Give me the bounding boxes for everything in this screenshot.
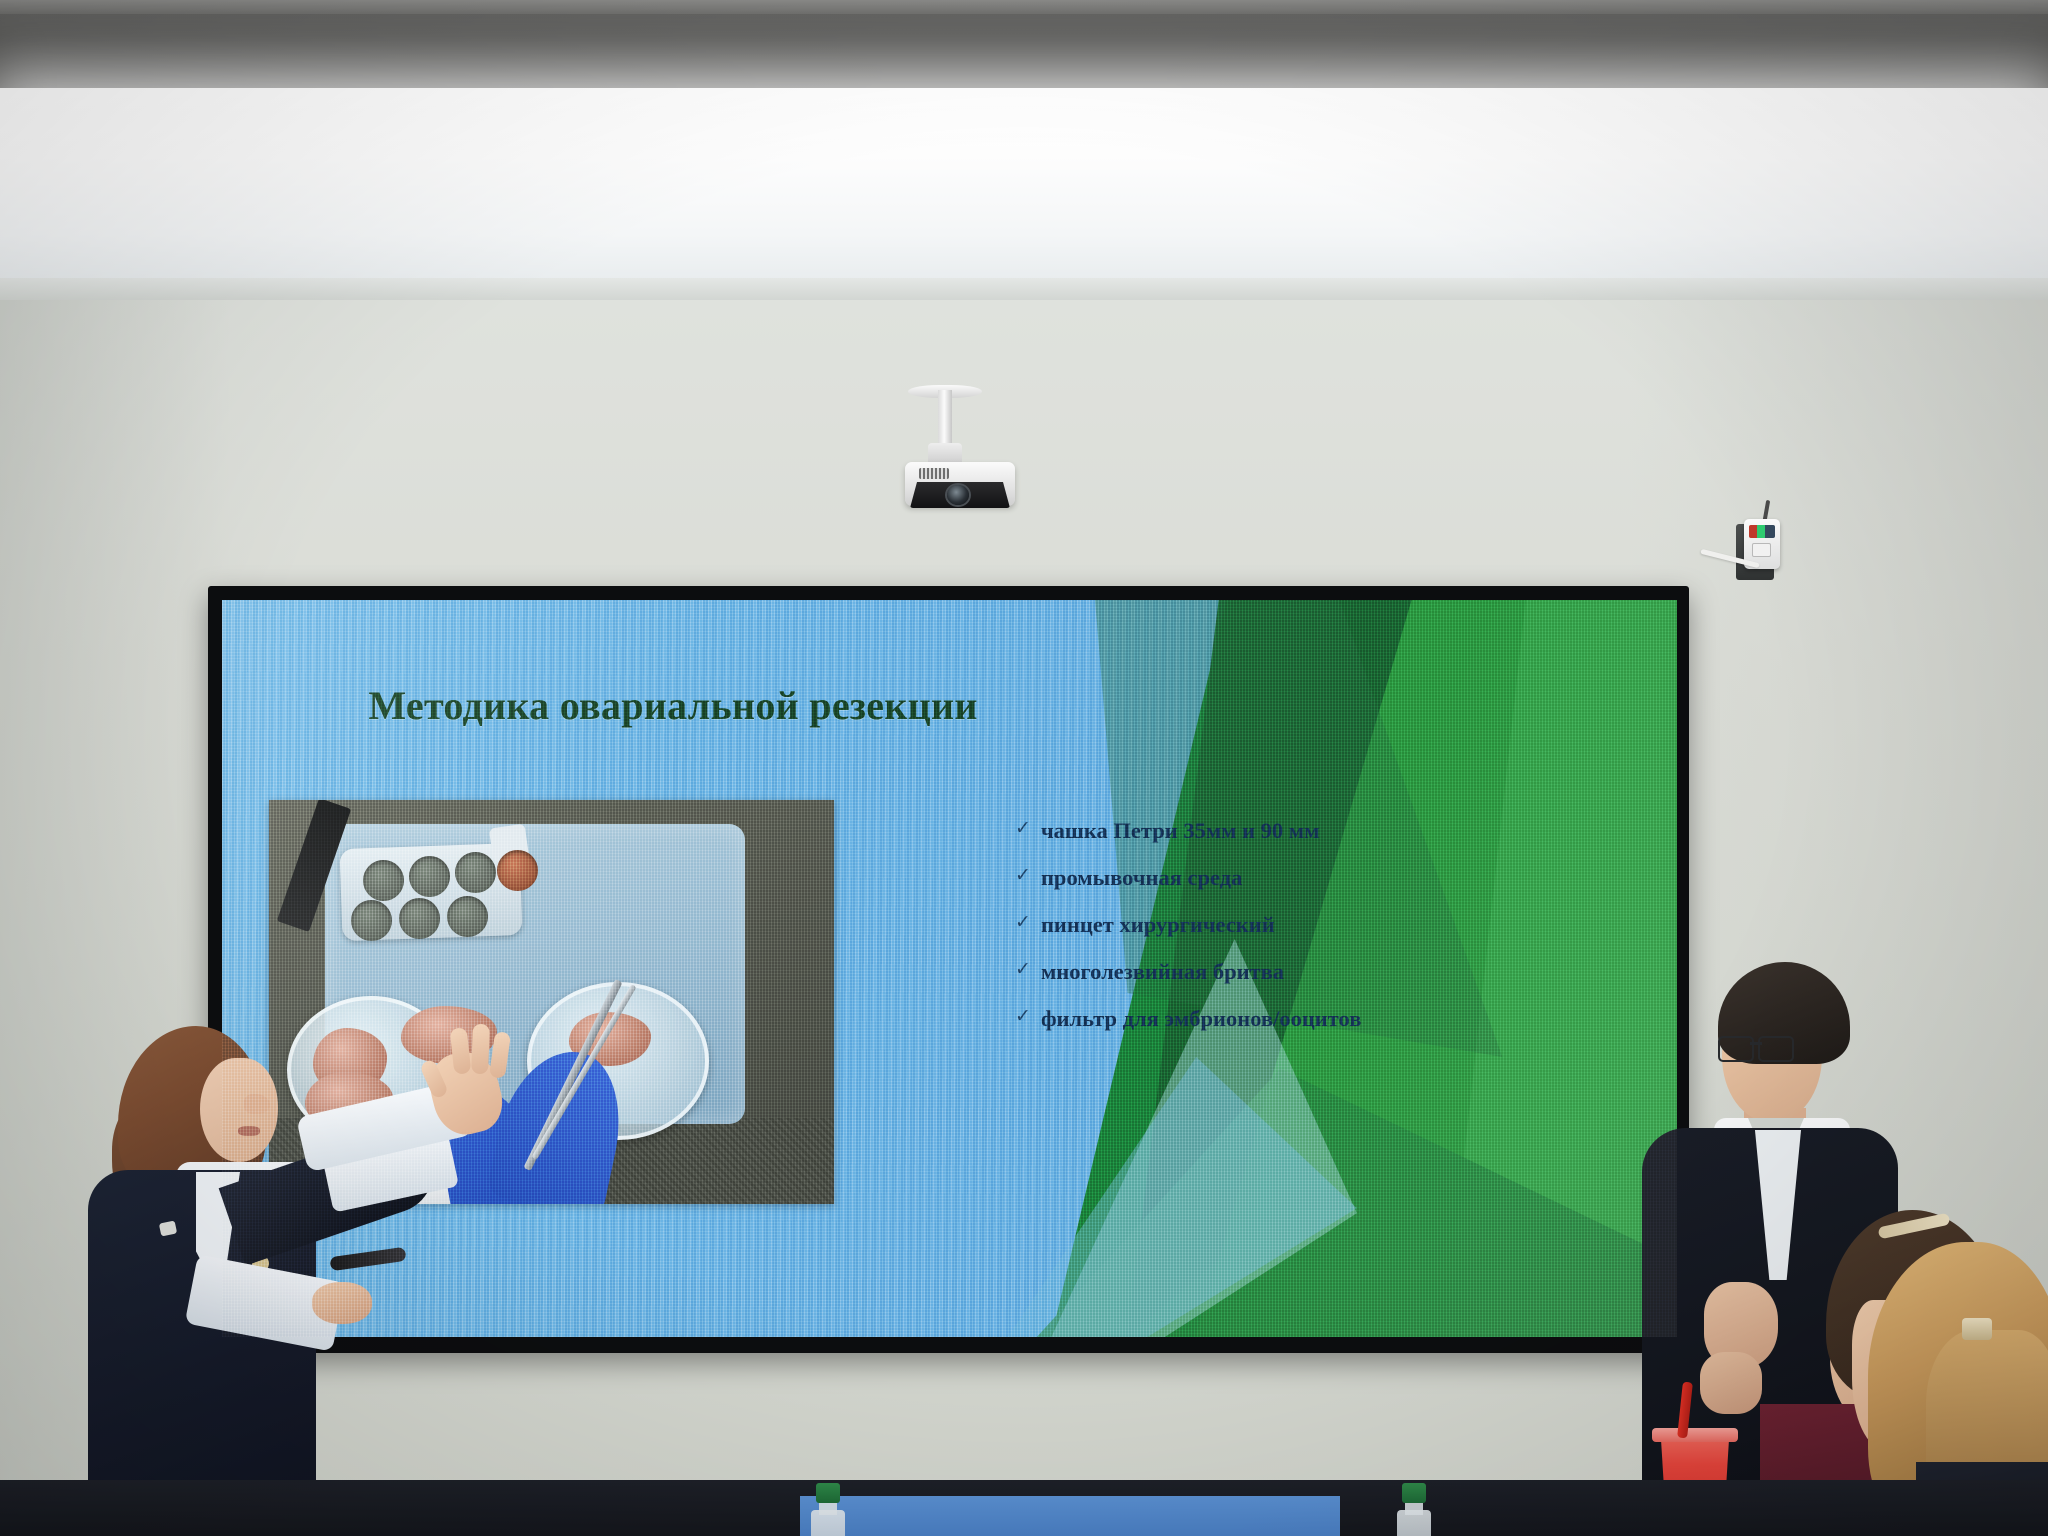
check-icon: ✓ <box>1015 818 1041 839</box>
man-hand-lower <box>1700 1352 1762 1414</box>
photo-well-filled <box>497 850 538 891</box>
list-item: ✓ многолезвийная бритва <box>1015 959 1481 985</box>
panel-display-icon <box>1749 525 1775 538</box>
bottle-body <box>811 1510 845 1536</box>
glasses-bridge-icon <box>1750 1042 1762 1045</box>
photo-well <box>363 860 404 901</box>
projector-mount-pole <box>938 390 952 448</box>
photo-well <box>447 896 488 937</box>
presenter-finger <box>471 1024 490 1075</box>
slide-bullet-list: ✓ чашка Петри 35мм и 90 мм ✓ промывочная… <box>1015 818 1481 1052</box>
presenter-hand <box>312 1282 372 1324</box>
bottle-cap <box>816 1483 840 1503</box>
presenter-mouth <box>238 1126 260 1136</box>
bottle-cap <box>1402 1483 1426 1503</box>
led-video-wall[interactable]: Методика овариальной резекции <box>208 586 1689 1353</box>
bottle-body <box>1397 1510 1431 1536</box>
bullet-label: фильтр для эмбрионов/ооцитов <box>1041 1006 1361 1032</box>
ceiling-band <box>0 0 2048 92</box>
list-item: ✓ фильтр для эмбрионов/ооцитов <box>1015 1006 1481 1032</box>
check-icon: ✓ <box>1015 912 1041 933</box>
blonde-hair-clip-icon <box>1962 1318 1992 1340</box>
bullet-label: пинцет хирургический <box>1041 912 1275 938</box>
bullet-label: чашка Петри 35мм и 90 мм <box>1041 818 1320 844</box>
check-icon: ✓ <box>1015 959 1041 980</box>
slide-surface: Методика овариальной резекции <box>222 600 1677 1337</box>
check-icon: ✓ <box>1015 865 1041 886</box>
check-icon: ✓ <box>1015 1006 1041 1027</box>
photo-well <box>409 856 450 897</box>
presenter-nose <box>244 1094 270 1114</box>
photo-well <box>351 900 392 941</box>
list-item: ✓ чашка Петри 35мм и 90 мм <box>1015 818 1481 844</box>
bullet-label: многолезвийная бритва <box>1041 959 1284 985</box>
cup-lid <box>1652 1428 1738 1442</box>
table-blue-panel <box>800 1496 1340 1536</box>
panel-button[interactable] <box>1752 543 1771 557</box>
photo-well <box>399 898 440 939</box>
slide-title: Методика овариальной резекции <box>222 682 1124 729</box>
projector-vent-icon <box>919 468 949 479</box>
bullet-label: промывочная среда <box>1041 865 1242 891</box>
list-item: ✓ промывочная среда <box>1015 865 1481 891</box>
projector-lens-icon <box>947 485 969 505</box>
ceiling-light-strip <box>0 88 2048 283</box>
list-item: ✓ пинцет хирургический <box>1015 912 1481 938</box>
room-scene: Методика овариальной резекции <box>0 0 2048 1536</box>
glasses-icon <box>1718 1036 1794 1058</box>
photo-well <box>455 852 496 893</box>
